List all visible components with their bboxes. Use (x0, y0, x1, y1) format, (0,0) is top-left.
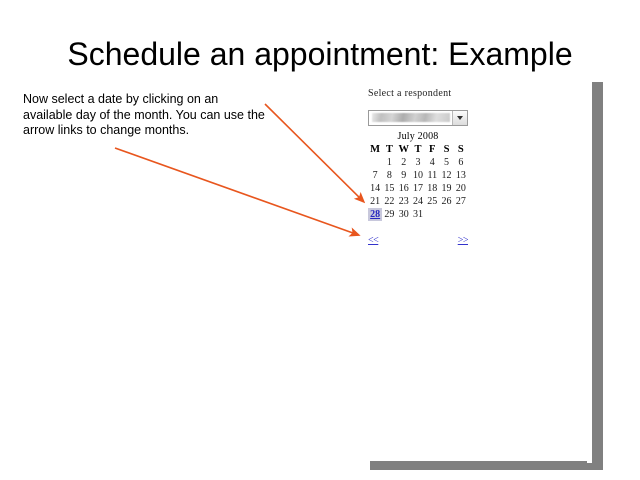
respondent-select-label: Select a respondent (368, 88, 451, 99)
calendar-day-cell: 15 (382, 182, 396, 195)
calendar-day-cell (454, 208, 468, 221)
calendar-day-cell: 16 (397, 182, 411, 195)
calendar-widget: July 2008 M T W T F S S 1 2 3 (368, 131, 468, 221)
calendar-next-month-link[interactable]: >> (458, 235, 468, 246)
arrow-to-selected-day (265, 104, 364, 202)
calendar-day-cell: 10 (411, 169, 425, 182)
chevron-down-icon[interactable] (452, 111, 467, 125)
calendar-day-cell: 20 (454, 182, 468, 195)
calendar-prev-month-link[interactable]: << (368, 235, 378, 246)
calendar-day-cell: 26 (439, 195, 453, 208)
calendar-week-row: 21 22 23 24 25 26 27 (368, 195, 468, 208)
respondent-selected-value (372, 113, 450, 122)
calendar-day-cell: 5 (439, 156, 453, 169)
calendar-day-cell (368, 156, 382, 169)
calendar-day-cell: 31 (411, 208, 425, 221)
instruction-text: Now select a date by clicking on an avai… (23, 92, 268, 139)
calendar-day-cell: 1 (382, 156, 396, 169)
calendar-day-cell: 23 (397, 195, 411, 208)
weekday-header: M (368, 143, 382, 156)
calendar-day-cell: 18 (425, 182, 439, 195)
calendar-day-cell: 12 (439, 169, 453, 182)
weekday-header: W (397, 143, 411, 156)
calendar-day-cell: 4 (425, 156, 439, 169)
weekday-header: T (382, 143, 396, 156)
arrow-to-month-nav (115, 148, 359, 235)
weekday-header: F (425, 143, 439, 156)
calendar-day-cell: 11 (425, 169, 439, 182)
calendar-day-cell: 2 (397, 156, 411, 169)
calendar-day-cell: 21 (368, 195, 382, 208)
calendar-day-cell-selected[interactable]: 28 (368, 208, 382, 221)
calendar-day-cell: 8 (382, 169, 396, 182)
calendar-day-cell: 14 (368, 182, 382, 195)
calendar-day-cell: 3 (411, 156, 425, 169)
screenshot-shadow-right (592, 82, 603, 461)
calendar-week-row: 1 2 3 4 5 6 (368, 156, 468, 169)
calendar-day-cell: 9 (397, 169, 411, 182)
calendar-day-cell: 29 (382, 208, 396, 221)
respondent-select[interactable] (368, 110, 468, 126)
calendar-day-cell: 30 (397, 208, 411, 221)
calendar-day-cell (425, 208, 439, 221)
calendar-day-cell: 24 (411, 195, 425, 208)
weekday-header: S (439, 143, 453, 156)
calendar-day-cell (439, 208, 453, 221)
calendar-nav: << >> (368, 235, 468, 246)
calendar-day-cell: 19 (439, 182, 453, 195)
calendar-day-cell: 7 (368, 169, 382, 182)
weekday-header: S (454, 143, 468, 156)
calendar-day-cell: 22 (382, 195, 396, 208)
calendar-week-row: 28 29 30 31 (368, 208, 468, 221)
slide-canvas: Schedule an appointment: Example Now sel… (0, 0, 640, 480)
calendar-day-cell: 6 (454, 156, 468, 169)
calendar-week-row: 7 8 9 10 11 12 13 (368, 169, 468, 182)
calendar-day-cell: 17 (411, 182, 425, 195)
calendar-day-link-selected[interactable]: 28 (370, 209, 380, 220)
calendar-day-cell: 25 (425, 195, 439, 208)
screenshot-shadow-gap (587, 80, 592, 463)
calendar-day-cell: 27 (454, 195, 468, 208)
calendar-table: M T W T F S S 1 2 3 4 5 6 (368, 143, 468, 221)
calendar-weekday-row: M T W T F S S (368, 143, 468, 156)
calendar-day-cell: 13 (454, 169, 468, 182)
weekday-header: T (411, 143, 425, 156)
screenshot-shadow-bottom (370, 461, 603, 470)
calendar-month-label: July 2008 (368, 131, 468, 143)
calendar-week-row: 14 15 16 17 18 19 20 (368, 182, 468, 195)
page-title: Schedule an appointment: Example (0, 36, 640, 73)
